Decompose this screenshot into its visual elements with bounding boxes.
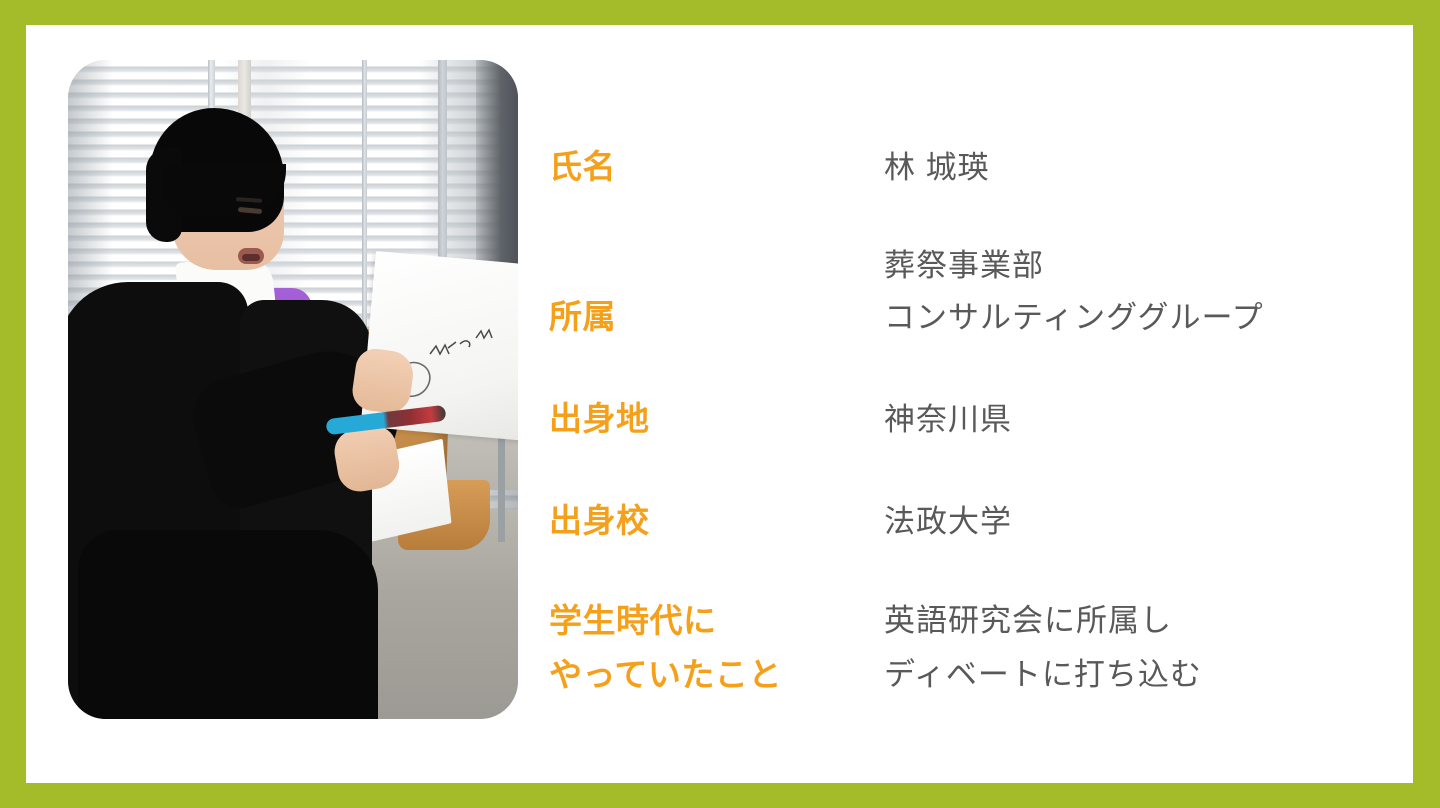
profile-row-birthplace: 出身地 神奈川県 — [549, 394, 1389, 446]
label-student-activity: 学生時代に やっていたこと — [549, 594, 884, 702]
person-figure — [68, 60, 518, 719]
label-department: 所属 — [549, 292, 884, 342]
profile-row-department: 所属 葬祭事業部 コンサルティンググループ — [549, 240, 1389, 344]
profile-row-school: 出身校 法政大学 — [549, 496, 1389, 548]
person-lap — [78, 530, 378, 719]
person-mouth-inner — [242, 254, 260, 261]
label-name: 氏名 — [549, 142, 884, 192]
content-card: 氏名 林 城瑛 所属 葬祭事業部 コンサルティンググループ 出身地 神奈川県 出… — [26, 25, 1413, 783]
slide-frame: 氏名 林 城瑛 所属 葬祭事業部 コンサルティンググループ 出身地 神奈川県 出… — [0, 0, 1440, 808]
profile-info-list: 氏名 林 城瑛 所属 葬祭事業部 コンサルティンググループ 出身地 神奈川県 出… — [549, 130, 1389, 702]
value-student-activity: 英語研究会に所属し ディベートに打ち込む — [884, 594, 1389, 702]
label-school: 出身校 — [549, 496, 884, 546]
photo-canvas — [68, 60, 518, 719]
profile-photo — [68, 60, 518, 719]
value-birthplace: 神奈川県 — [884, 394, 1389, 446]
label-birthplace: 出身地 — [549, 394, 884, 444]
profile-row-student-activity: 学生時代に やっていたこと 英語研究会に所属し ディベートに打ち込む — [549, 594, 1389, 702]
profile-row-name: 氏名 林 城瑛 — [549, 142, 1389, 194]
value-school: 法政大学 — [884, 496, 1389, 548]
value-department: 葬祭事業部 コンサルティンググループ — [884, 240, 1389, 344]
value-name: 林 城瑛 — [884, 142, 1389, 194]
